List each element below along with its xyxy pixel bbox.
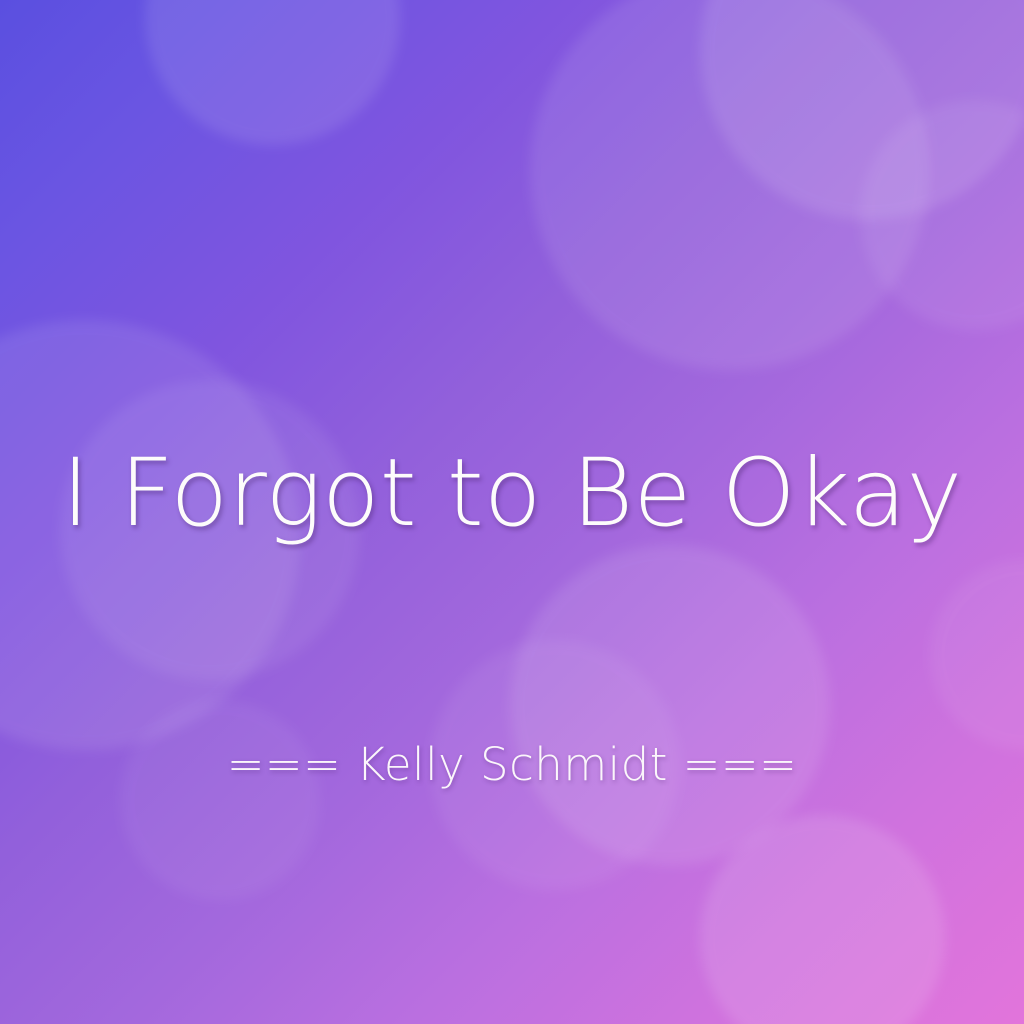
page-title: I Forgot to Be Okay xyxy=(0,447,1024,541)
album-cover-artwork: I Forgot to Be Okay === Kelly Schmidt ==… xyxy=(0,0,1024,1024)
cover-text-layer: I Forgot to Be Okay === Kelly Schmidt ==… xyxy=(0,0,1024,1024)
artist-subtitle: === Kelly Schmidt === xyxy=(0,742,1024,787)
